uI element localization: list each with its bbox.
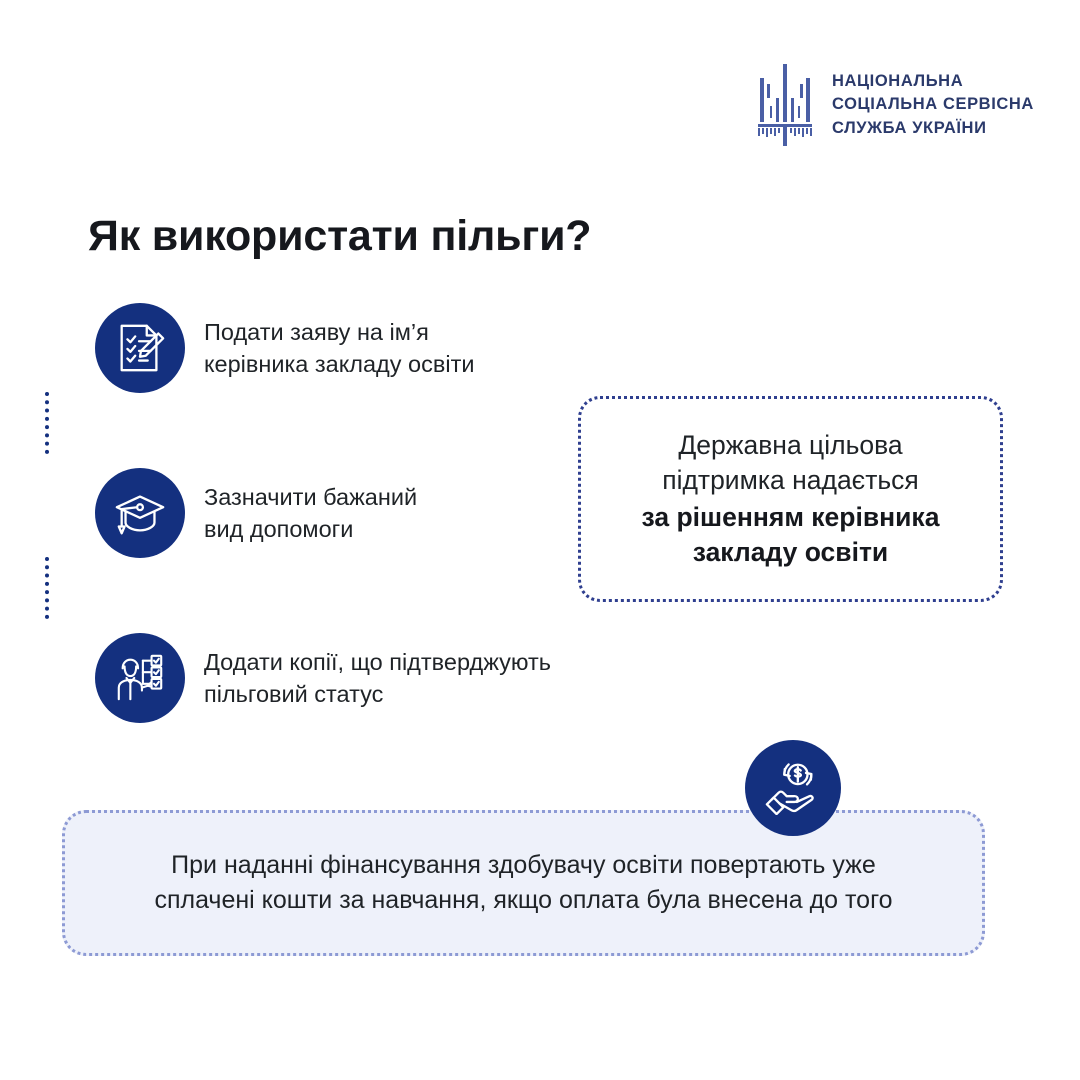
step-1-label: Подати заяву на ім’я керівника закладу о… — [204, 316, 474, 381]
hand-money-refund-icon — [764, 757, 822, 820]
graduation-cap-icon — [113, 486, 167, 540]
refund-note-text: При наданні фінансування здобувачу освіт… — [124, 848, 922, 919]
step-3-label: Додати копії, що підтверджують пільговий… — [204, 646, 551, 711]
trident-logo-icon — [752, 62, 818, 148]
hand-money-refund-icon-circle — [745, 740, 841, 836]
decision-callout-regular-text: Державна цільова підтримка надається — [662, 428, 919, 498]
brand-name-line-1: НАЦІОНАЛЬНА — [832, 71, 1034, 92]
step-2-icon-circle — [95, 468, 185, 558]
brand-name-line-2: СОЦІАЛЬНА СЕРВІСНА — [832, 94, 1034, 115]
step-3-icon-circle — [95, 633, 185, 723]
step-item-3: Додати копії, що підтверджують пільговий… — [95, 633, 695, 723]
decision-callout-bold-text: за рішенням керівника закладу освіти — [642, 500, 940, 570]
brand-logo: НАЦІОНАЛЬНА СОЦІАЛЬНА СЕРВІСНА СЛУЖБА УК… — [752, 62, 1034, 148]
step-connector-1 — [45, 392, 49, 454]
step-connector-2 — [45, 557, 49, 619]
step-item-1: Подати заяву на ім’я керівника закладу о… — [95, 303, 695, 393]
step-1-icon-circle — [95, 303, 185, 393]
person-checklist-icon — [113, 651, 167, 705]
brand-name: НАЦІОНАЛЬНА СОЦІАЛЬНА СЕРВІСНА СЛУЖБА УК… — [832, 71, 1034, 138]
refund-note-callout: При наданні фінансування здобувачу освіт… — [62, 810, 985, 956]
brand-name-line-3: СЛУЖБА УКРАЇНИ — [832, 118, 1034, 139]
page-title: Як використати пільги? — [88, 212, 591, 261]
decision-callout: Державна цільова підтримка надається за … — [578, 396, 1003, 602]
step-2-label: Зазначити бажаний вид допомоги — [204, 481, 417, 546]
document-pencil-icon — [113, 321, 167, 375]
